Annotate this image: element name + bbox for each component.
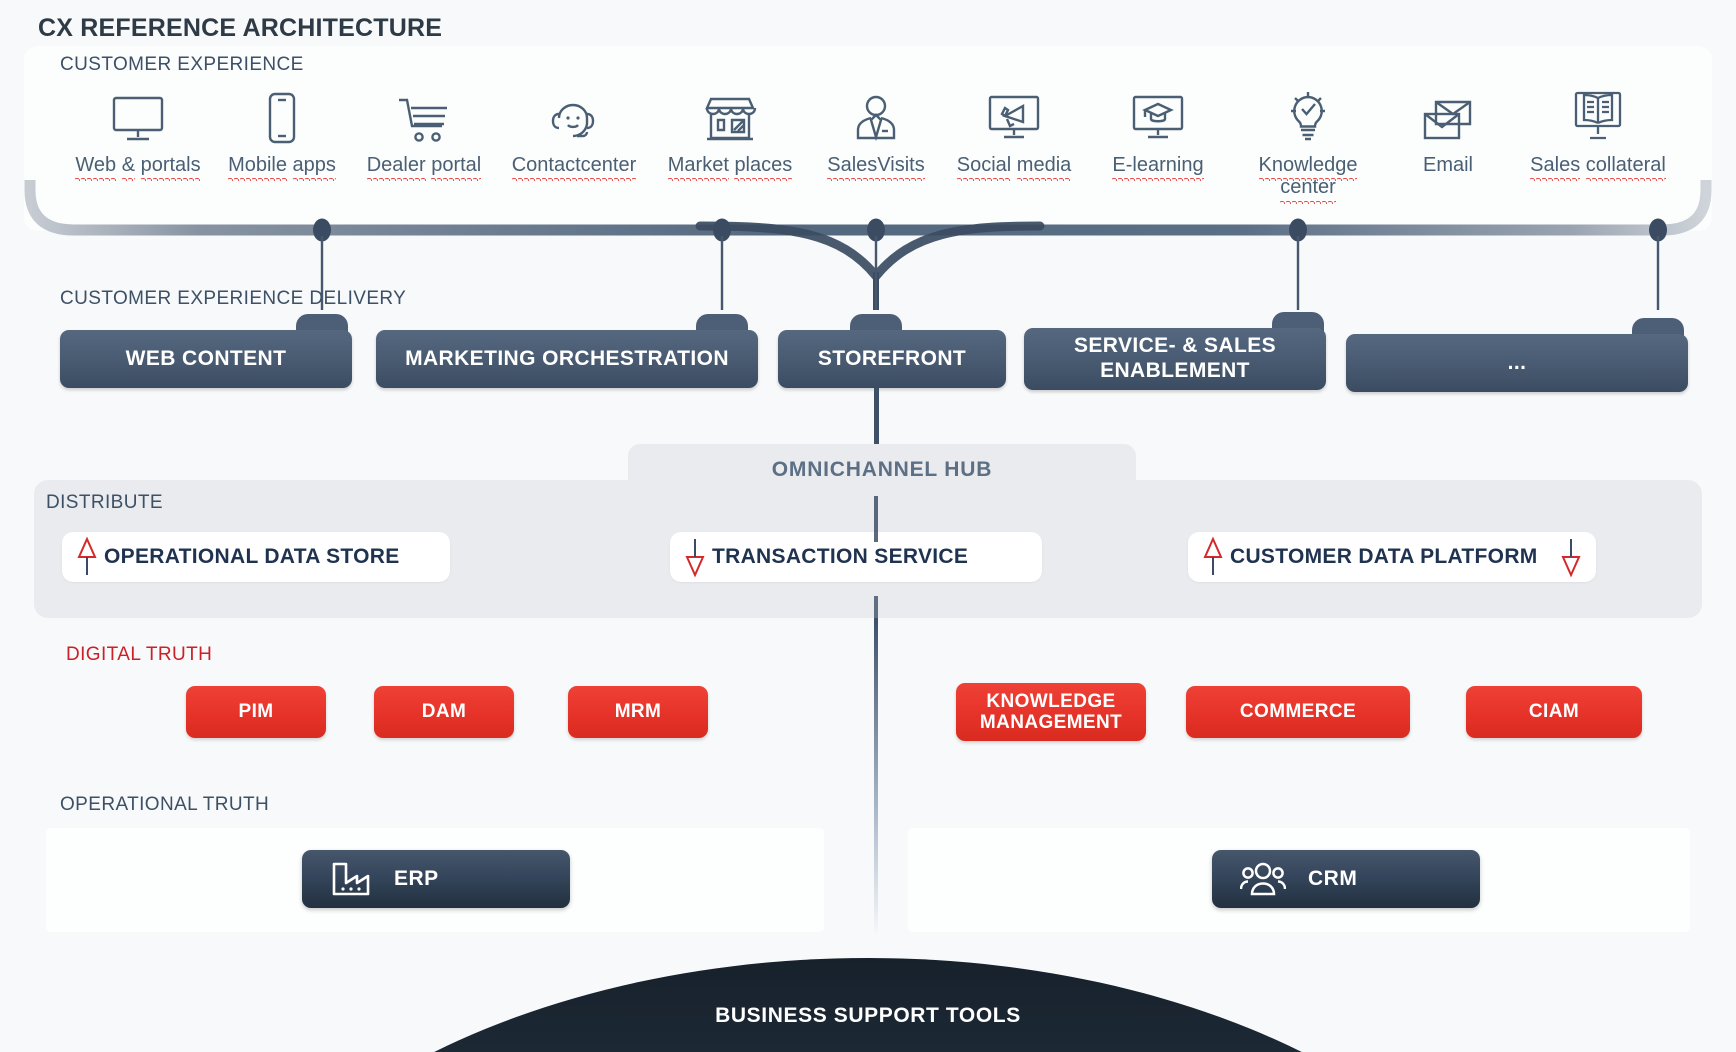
delivery-box-label: MARKETING ORCHESTRATION <box>405 347 729 372</box>
cx-channel-label: Mobile apps <box>228 154 336 176</box>
section-label-cx-delivery: CUSTOMER EXPERIENCE DELIVERY <box>60 288 406 310</box>
business-support-tools-label: BUSINESS SUPPORT TOOLS <box>0 1004 1736 1028</box>
open-book-stand-icon <box>1570 86 1626 144</box>
system-box-erp[interactable]: ERP <box>302 850 570 908</box>
business-support-tools-arc <box>0 940 1736 1052</box>
digital-truth-chip-mrm[interactable]: MRM <box>568 686 708 738</box>
cx-channel-label: Web & portals <box>75 154 200 176</box>
section-label-operational-truth: OPERATIONAL TRUTH <box>60 794 269 816</box>
system-box-label: CRM <box>1308 867 1357 891</box>
cx-channel-label: Social media <box>957 154 1072 176</box>
digital-truth-chip-knowledge-management[interactable]: KNOWLEDGE MANAGEMENT <box>956 683 1146 741</box>
cx-channel-label: Contactcenter <box>512 154 637 176</box>
delivery-box-service-sales-enablement[interactable]: SERVICE- & SALES ENABLEMENT <box>1024 328 1326 390</box>
megaphone-screen-icon <box>985 86 1043 144</box>
chip-label: DAM <box>422 701 466 722</box>
cx-channel-label: Dealer portal <box>367 154 482 176</box>
delivery-box-[interactable]: ... <box>1346 334 1688 392</box>
digital-truth-chip-dam[interactable]: DAM <box>374 686 514 738</box>
arrow-down-red <box>678 535 712 579</box>
delivery-box-web-content[interactable]: WEB CONTENT <box>60 330 352 388</box>
cx-channel-mobile-apps[interactable]: Mobile apps <box>207 86 357 176</box>
arrow-down-red <box>1554 535 1588 579</box>
distribute-card-label: OPERATIONAL DATA STORE <box>104 545 408 569</box>
cx-channel-dealer-portal[interactable]: Dealer portal <box>349 86 499 176</box>
lightbulb-check-icon <box>1279 86 1337 144</box>
delivery-box-storefront[interactable]: STOREFRONT <box>778 330 1006 388</box>
cx-channel-market-places[interactable]: Market places <box>655 86 805 176</box>
envelopes-icon <box>1420 86 1476 144</box>
distribute-card-label: CUSTOMER DATA PLATFORM <box>1230 545 1554 569</box>
cx-channel-email[interactable]: Email <box>1373 86 1523 176</box>
section-label-digital-truth: DIGITAL TRUTH <box>66 644 212 666</box>
shopping-cart-icon <box>397 86 451 144</box>
digital-truth-chip-pim[interactable]: PIM <box>186 686 326 738</box>
spine-storefront-to-hub <box>874 388 879 446</box>
distribute-card-label: TRANSACTION SERVICE <box>712 545 1000 569</box>
cx-channel-sales-collateral[interactable]: Sales collateral <box>1523 86 1673 176</box>
chip-label: CIAM <box>1529 701 1579 722</box>
cx-channel-web-portals[interactable]: Web & portals <box>63 86 213 176</box>
spine-hub-lower <box>874 596 878 620</box>
monitor-icon <box>110 86 166 144</box>
cx-channel-label: Market places <box>668 154 793 176</box>
system-box-label: ERP <box>394 867 439 891</box>
chip-label: KNOWLEDGE MANAGEMENT <box>956 691 1146 734</box>
graduation-screen-icon <box>1129 86 1187 144</box>
distribute-card-operational-data-store[interactable]: OPERATIONAL DATA STORE <box>62 532 450 582</box>
delivery-box-marketing-orchestration[interactable]: MARKETING ORCHESTRATION <box>376 330 758 388</box>
arrow-up-red <box>1196 535 1230 579</box>
distribute-card-transaction-service[interactable]: TRANSACTION SERVICE <box>670 532 1042 582</box>
cx-channel-contactcenter[interactable]: Contactcenter <box>499 86 649 176</box>
cx-channel-label: SalesVisits <box>827 154 924 176</box>
headset-agent-icon <box>546 86 602 144</box>
cx-channel-label: Sales collateral <box>1530 154 1666 176</box>
storefront-icon <box>701 86 759 144</box>
people-group-icon <box>1240 861 1286 897</box>
cx-channel-social-media[interactable]: Social media <box>939 86 1089 176</box>
chip-label: COMMERCE <box>1240 701 1356 722</box>
chip-label: MRM <box>615 701 662 722</box>
distribute-card-customer-data-platform[interactable]: CUSTOMER DATA PLATFORM <box>1188 532 1596 582</box>
system-box-crm[interactable]: CRM <box>1212 850 1480 908</box>
section-label-distribute: DISTRIBUTE <box>46 492 163 514</box>
delivery-box-label: WEB CONTENT <box>126 347 287 372</box>
digital-truth-chip-commerce[interactable]: COMMERCE <box>1186 686 1410 738</box>
chip-label: PIM <box>239 701 274 722</box>
spine-hub-upper <box>874 496 878 542</box>
digital-truth-chip-ciam[interactable]: CIAM <box>1466 686 1642 738</box>
spine-lower-fade <box>874 618 878 936</box>
arrow-up-red <box>70 535 104 579</box>
factory-icon <box>330 860 372 898</box>
delivery-box-label: ... <box>1508 351 1527 376</box>
cx-channel-label: E-learning <box>1112 154 1203 176</box>
cx-channel-label: Email <box>1423 154 1473 176</box>
cx-channel-e-learning[interactable]: E-learning <box>1083 86 1233 176</box>
delivery-box-label: STOREFRONT <box>818 347 966 372</box>
cx-channel-salesvisits[interactable]: SalesVisits <box>801 86 951 176</box>
delivery-box-label: SERVICE- & SALES ENABLEMENT <box>1024 334 1326 384</box>
page-title: CX REFERENCE ARCHITECTURE <box>38 14 442 43</box>
salesperson-icon <box>849 86 903 144</box>
smartphone-icon <box>267 86 297 144</box>
section-label-customer-experience: CUSTOMER EXPERIENCE <box>60 54 304 76</box>
